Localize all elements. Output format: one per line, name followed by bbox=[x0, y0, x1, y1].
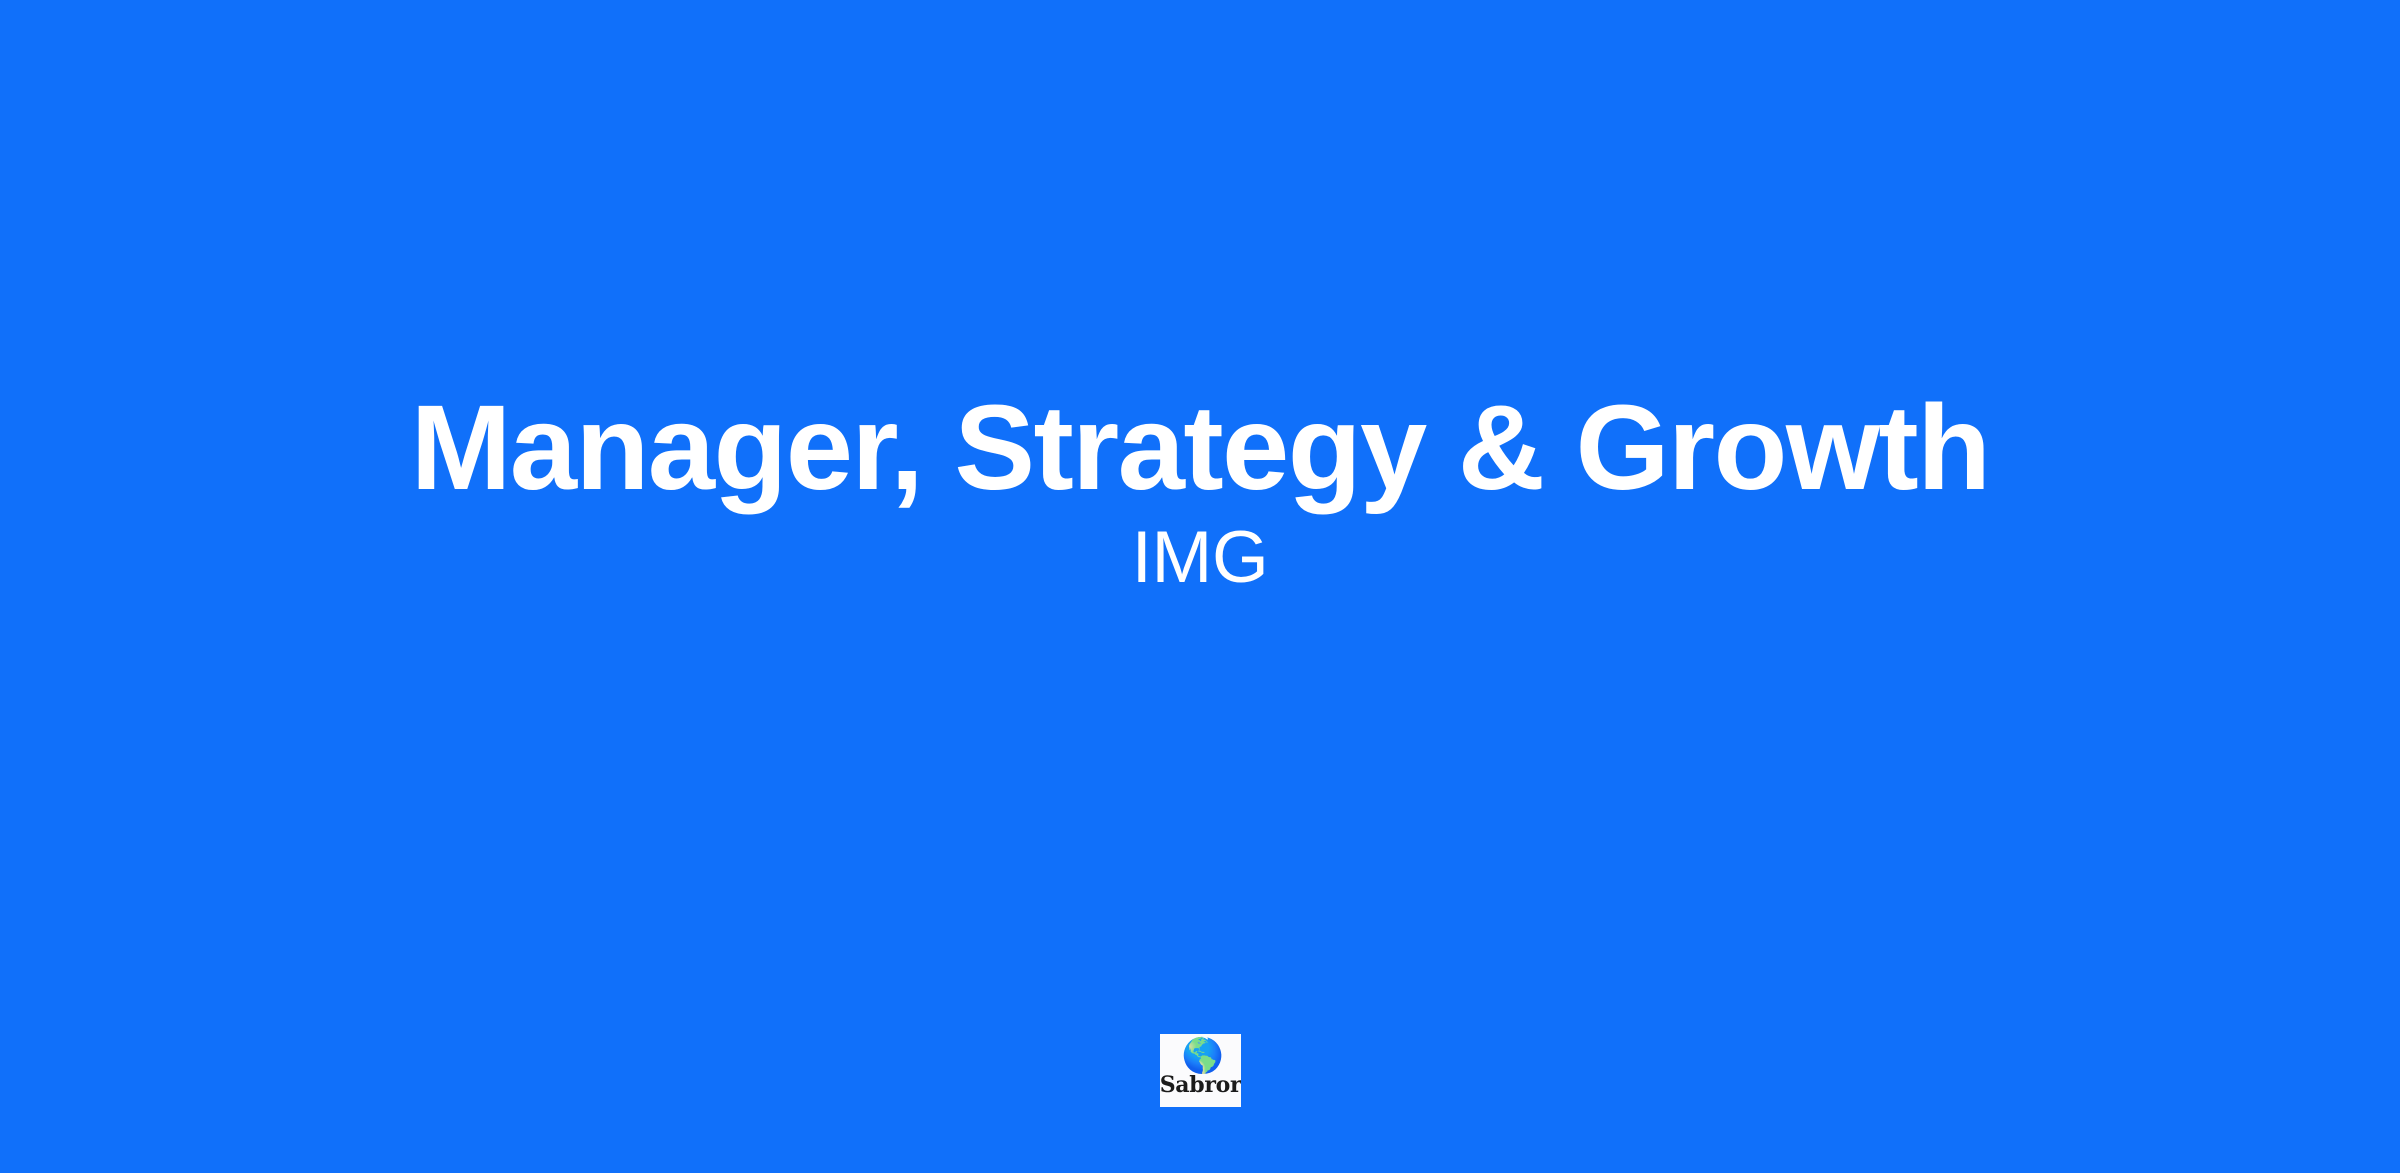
page-title: Manager, Strategy & Growth bbox=[411, 386, 1990, 509]
hero-block: Manager, Strategy & Growth IMG bbox=[0, 386, 2400, 597]
brand-wordmark: Sabror bbox=[1160, 1074, 1241, 1096]
page-subtitle: IMG bbox=[1132, 520, 1269, 597]
title-slide: Manager, Strategy & Growth IMG 🌎 Sabror bbox=[0, 0, 2400, 1173]
brand-logo-badge: 🌎 Sabror bbox=[1160, 1034, 1241, 1107]
globe-icon: 🌎 bbox=[1182, 1037, 1220, 1075]
